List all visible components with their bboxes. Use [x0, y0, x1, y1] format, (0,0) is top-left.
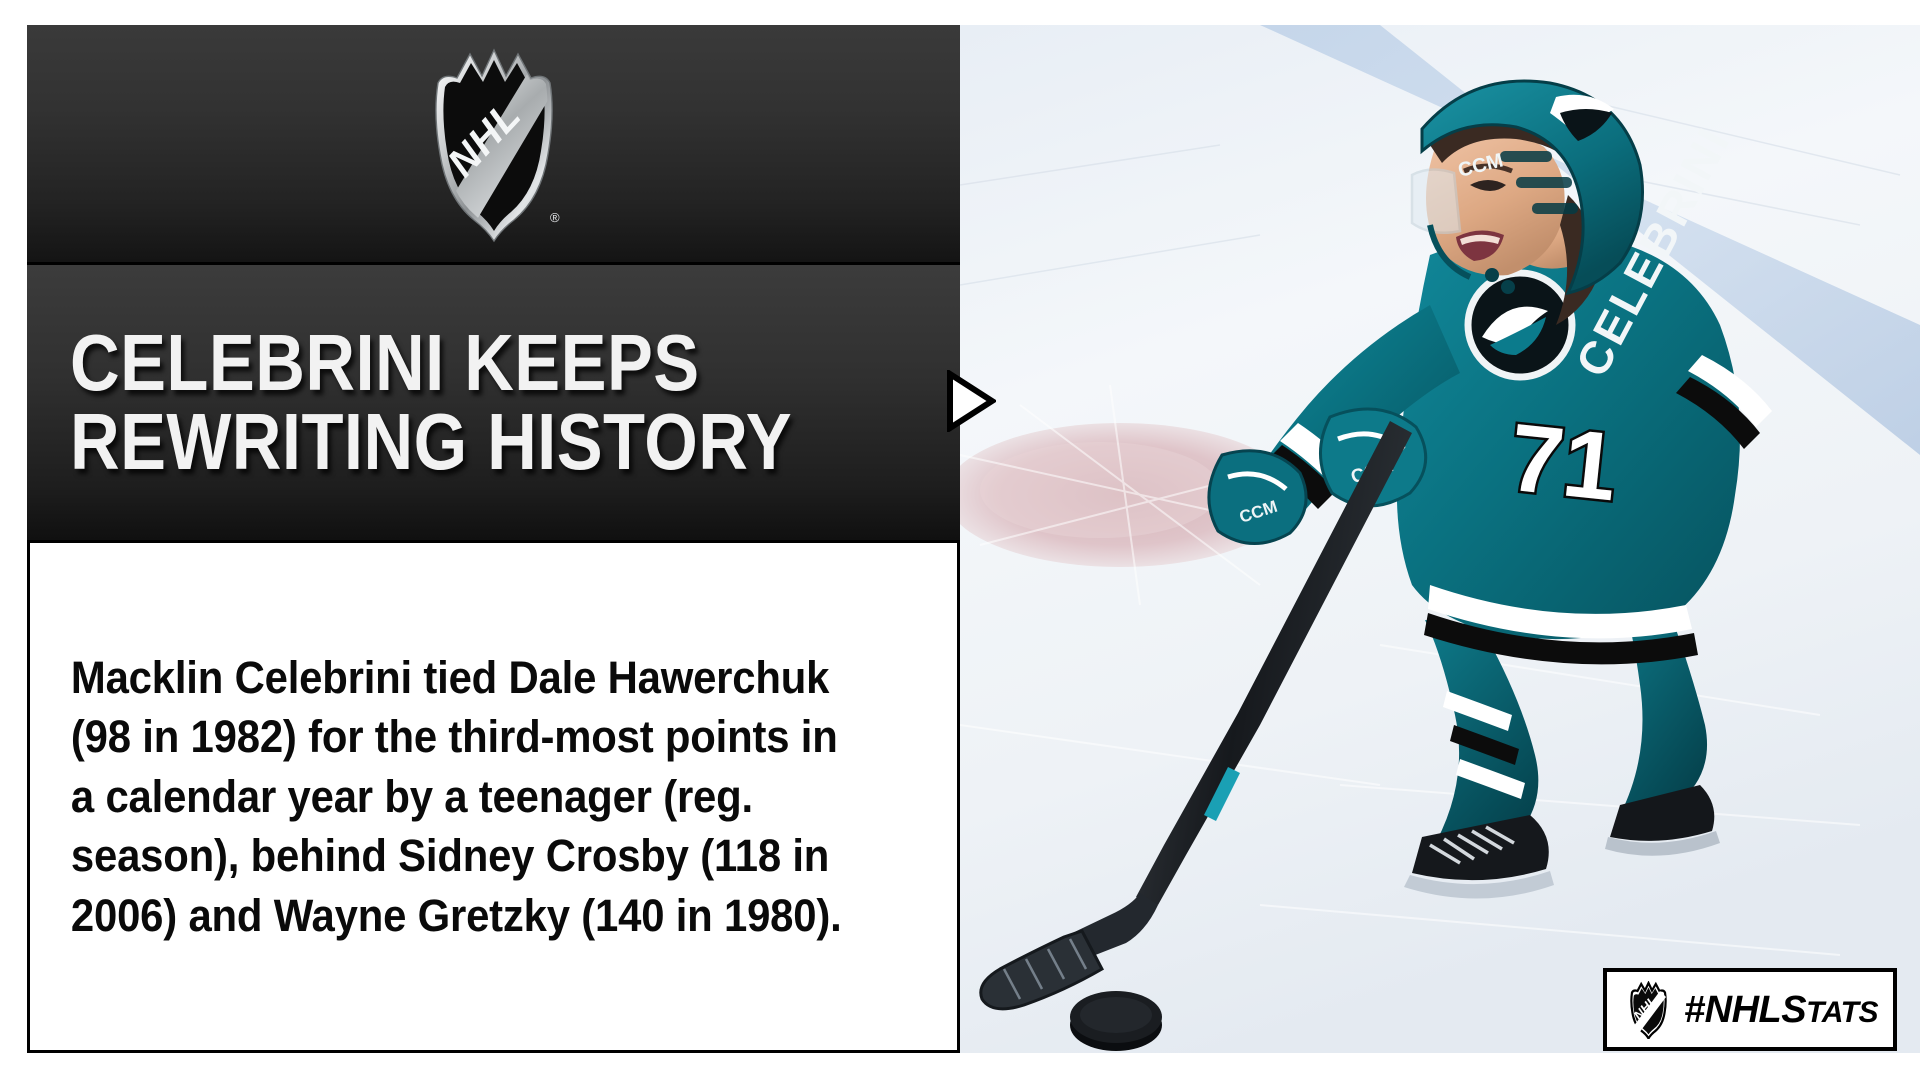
jersey-number: 71	[1505, 404, 1622, 522]
nhl-shield-small-icon: NHL	[1625, 981, 1672, 1039]
glove-lower: CCM	[1209, 451, 1306, 544]
body-copy: Macklin Celebrini tied Dale Hawerchuk (9…	[30, 648, 892, 945]
headline-block: CELEBRINI KEEPS REWRITING HISTORY	[27, 265, 960, 543]
nhl-stats-wordmark: #NHLSTATS	[1684, 991, 1878, 1029]
nhl-shield-icon: NHL ®	[414, 44, 574, 244]
shoulder-patch	[1468, 273, 1572, 377]
body-copy-panel: Macklin Celebrini tied Dale Hawerchuk (9…	[27, 543, 960, 1053]
puck	[1070, 991, 1162, 1051]
badge-hashtag: #NHL	[1684, 989, 1781, 1031]
player-photo: CELEBRINI 71	[960, 25, 1920, 1053]
nhl-stats-graphic: NHL ® CELEBRINI KEEPS REWRITING HISTORY …	[0, 0, 1920, 1080]
svg-text:71: 71	[1505, 404, 1622, 522]
visor	[1412, 169, 1460, 232]
svg-text:®: ®	[550, 210, 560, 225]
left-content-panel: NHL ® CELEBRINI KEEPS REWRITING HISTORY …	[27, 25, 960, 1053]
logo-header-block: NHL ®	[27, 25, 960, 265]
badge-stats-s: S	[1781, 989, 1806, 1031]
badge-stats-rest: TATS	[1806, 996, 1878, 1029]
nhl-stats-badge: NHL #NHLSTATS	[1603, 968, 1897, 1051]
page-title: CELEBRINI KEEPS REWRITING HISTORY	[27, 324, 792, 481]
panel-divider-arrow	[944, 370, 996, 432]
